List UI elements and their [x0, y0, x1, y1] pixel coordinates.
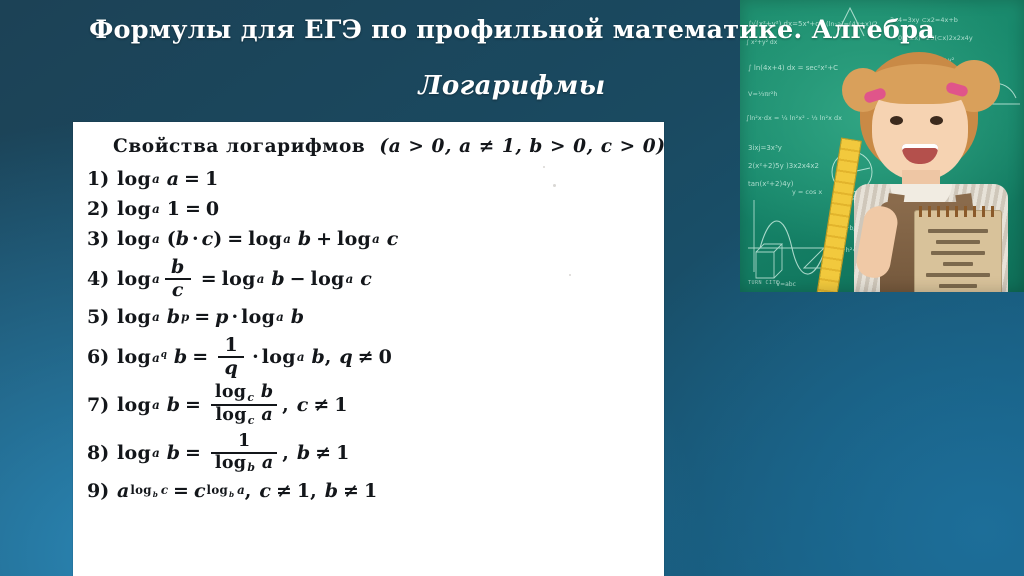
formula-expression: loga b c = loga b − loga c	[117, 258, 372, 301]
svg-text:∫ x²+y² dx: ∫ x²+y² dx	[746, 39, 778, 46]
fraction: logcb logca	[211, 384, 277, 425]
formula-number: 5)	[87, 306, 117, 328]
formula-expression: loga b = 1 logba , b ≠ 1	[117, 433, 349, 474]
formula-row: 8) loga b = 1 logba , b ≠ 1	[87, 430, 648, 476]
svg-text:3ixj=3x³y: 3ixj=3x³y	[748, 144, 782, 152]
formula-number: 4)	[87, 268, 117, 290]
svg-text:∫ln²x·dx = ¼ ln²x² - ⅓ ln²x dx: ∫ln²x·dx = ¼ ln²x² - ⅓ ln²x dx	[746, 114, 842, 122]
formula-number: 2)	[87, 198, 117, 220]
svg-text:3x4=3xy ⊂x2=4x+b: 3x4=3xy ⊂x2=4x+b	[890, 16, 958, 24]
photo-watermark: TURN CITE	[748, 280, 780, 286]
illustration-photo: ∫√(x²+y²) dx=5x⁴+c ∫ x²+y² dx ∫ ln(4x+4)…	[740, 0, 1024, 292]
formula-number: 1)	[87, 168, 117, 190]
formula-row: 7) loga b = logcb logca , c ≠ 1	[87, 382, 648, 428]
svg-text:∫√(x²+y²) dx=5x⁴+c: ∫√(x²+y²) dx=5x⁴+c	[748, 20, 819, 28]
svg-text:V=⅓πr²h: V=⅓πr²h	[748, 90, 778, 98]
formula-row: 4) loga b c = loga b − loga c	[87, 256, 648, 302]
svg-text:∫ ln(4x+4) dx = sec²x²+C: ∫ ln(4x+4) dx = sec²x²+C	[748, 64, 838, 72]
formula-expression: loga 1 = 0	[117, 198, 219, 220]
notepad-icon	[914, 210, 1002, 292]
formula-expression: alogbc = clogba , c ≠ 1, b ≠ 1	[117, 480, 377, 502]
girl-figure	[836, 34, 1024, 292]
formula-row: 3) loga (b ·c) = loga b + loga c	[87, 226, 648, 252]
formula-scan-image: Свойства логарифмов (a > 0, a ≠ 1, b > 0…	[73, 122, 664, 576]
panel-heading-prefix: Свойства логарифмов	[113, 136, 365, 157]
formula-row: 5) loga bp = p · loga b	[87, 304, 648, 330]
fraction: b c	[165, 258, 191, 301]
fraction: 1 q	[218, 336, 244, 379]
formula-number: 6)	[87, 346, 117, 368]
formula-number: 8)	[87, 442, 117, 464]
formula-expression: loga b = logcb logca , c ≠ 1	[117, 384, 348, 425]
formula-row: 9) alogbc = clogba , c ≠ 1, b ≠ 1	[87, 478, 648, 504]
formula-expression: loga bp = p · loga b	[117, 306, 304, 328]
formula-expression: logaq b = 1 q · loga b, q ≠ 0	[117, 336, 392, 379]
formula-expression: loga a = 1	[117, 168, 218, 190]
formula-number: 7)	[87, 394, 117, 416]
formula-number: 9)	[87, 480, 117, 502]
formula-panel: Свойства логарифмов (a > 0, a ≠ 1, b > 0…	[73, 122, 664, 576]
fraction: 1 logba	[211, 433, 277, 474]
formula-row: 6) logaq b = 1 q · loga b, q ≠ 0	[87, 334, 648, 380]
svg-text:2(x²+2)5y )3x2x4x2: 2(x²+2)5y )3x2x4x2	[748, 162, 819, 170]
presentation-slide: ∫√(x²+y²) dx=5x⁴+c ∫ x²+y² dx ∫ ln(4x+4)…	[0, 0, 1024, 576]
formula-expression: loga (b ·c) = loga b + loga c	[117, 228, 398, 250]
panel-heading: Свойства логарифмов (a > 0, a ≠ 1, b > 0…	[87, 136, 648, 157]
svg-text:y = cos x: y = cos x	[792, 188, 822, 196]
svg-text:tan(x²+2)4y): tan(x²+2)4y)	[748, 180, 794, 188]
svg-text:(ln₂a)=(4x+x)/2: (ln₂a)=(4x+x)/2	[826, 20, 878, 28]
formula-row: 2) loga 1 = 0	[87, 196, 648, 222]
formula-row: 1) loga a = 1	[87, 166, 648, 192]
formula-number: 3)	[87, 228, 117, 250]
panel-heading-condition: (a > 0, a ≠ 1, b > 0, c > 0):	[379, 136, 664, 157]
